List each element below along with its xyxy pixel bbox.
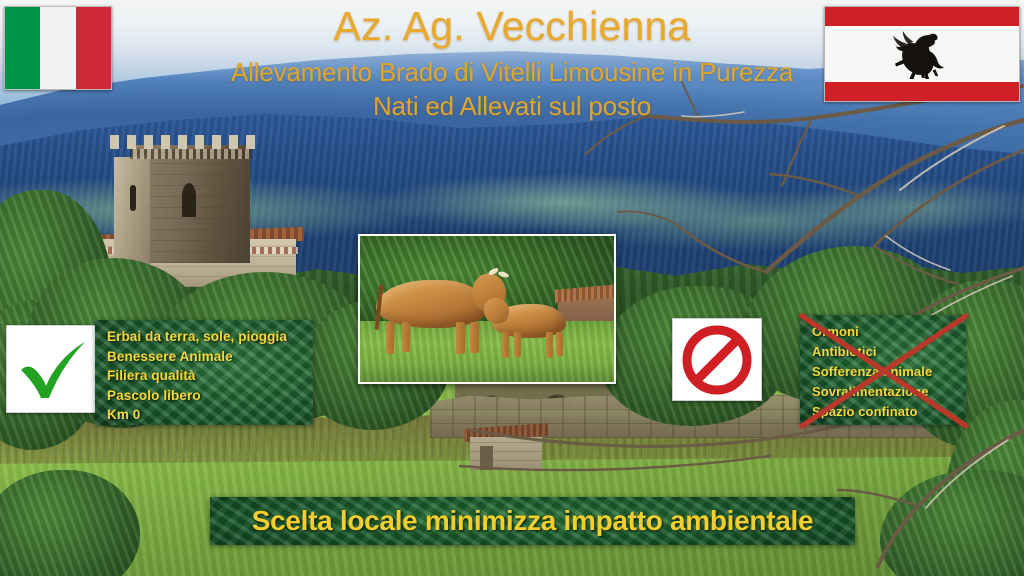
check-icon — [15, 336, 91, 402]
prohibited-item: Ormoni — [812, 322, 956, 342]
benefit-item: Erbai da terra, sole, pioggia — [107, 327, 303, 347]
cow-mother-leg-1 — [386, 322, 394, 354]
prohibited-item: Sovralimentazione — [812, 382, 956, 402]
tuscany-flag — [824, 6, 1020, 102]
no-entry-sign — [672, 318, 762, 401]
pegasus-icon — [891, 29, 953, 79]
prohibited-item: Sofferenza animale — [812, 362, 956, 382]
italy-flag — [4, 6, 112, 90]
tower-slit-window — [130, 185, 136, 211]
bottom-banner-text: Scelta locale minimizza impatto ambienta… — [252, 505, 814, 537]
tower-shaft-light-side — [114, 157, 150, 265]
italy-flag-white-band — [40, 7, 75, 89]
no-entry-icon — [681, 324, 753, 396]
benefit-item: Filiera qualità — [107, 366, 303, 386]
prohibited-item: Antibiotici — [812, 342, 956, 362]
tuscany-flag-top-red-band — [825, 7, 1019, 26]
calf-leg-2 — [514, 332, 521, 357]
cow-mother-leg-3 — [456, 322, 465, 354]
prohibited-panel: Ormoni Antibiotici Sofferenza animale So… — [800, 315, 966, 425]
tuscany-flag-white-field — [825, 26, 1019, 82]
cow-mother-leg-4 — [470, 322, 479, 353]
tower-crenellations — [110, 135, 256, 149]
calf-leg-4 — [556, 332, 563, 356]
benefit-item: Km 0 — [107, 405, 303, 425]
photo-pasture — [360, 321, 614, 382]
green-check-sign — [6, 325, 100, 413]
tuscany-flag-bottom-red-band — [825, 82, 1019, 101]
cow-mother-leg-2 — [402, 322, 410, 352]
bottom-banner: Scelta locale minimizza impatto ambienta… — [210, 497, 855, 545]
benefit-item: Benessere Animale — [107, 347, 303, 367]
tower-window — [182, 183, 196, 217]
background-stone-shed — [470, 426, 542, 470]
italy-flag-red-band — [76, 7, 111, 89]
prohibited-item: Spazio confinato — [812, 402, 956, 422]
benefits-panel: Erbai da terra, sole, pioggia Benessere … — [95, 320, 313, 425]
shed-door — [480, 446, 493, 470]
calf-leg-3 — [546, 332, 553, 358]
farm-promo-poster: Az. Ag. Vecchienna Allevamento Brado di … — [0, 0, 1024, 576]
tower-corbel-row — [130, 149, 252, 159]
cow-and-calf-photo — [358, 234, 616, 384]
cow-mother-body — [376, 280, 488, 328]
calf-leg-1 — [502, 332, 509, 358]
italy-flag-green-band — [5, 7, 40, 89]
benefit-item: Pascolo libero — [107, 386, 303, 406]
